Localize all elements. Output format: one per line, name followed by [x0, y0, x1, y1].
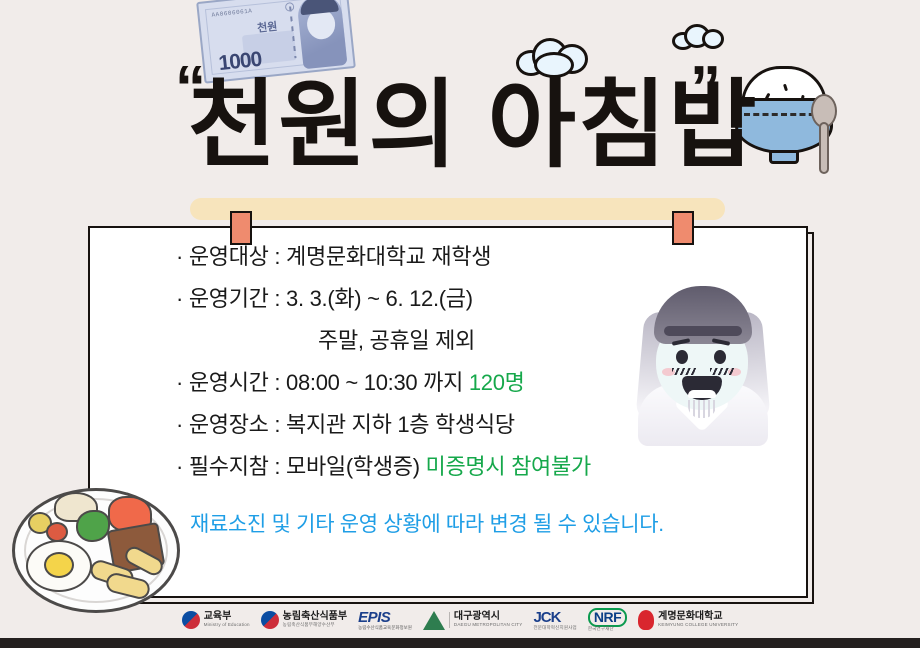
logo-jck-sub: 전문대학혁신지원사업: [533, 626, 576, 631]
sponsor-logo-bar: 교육부 Ministry of Education 농림축산식품부 농림축산식품…: [0, 604, 920, 636]
logo-daegu-en: DAEGU METROPOLITAN CITY: [454, 623, 523, 628]
logo-daegu: 대구광역시 DAEGU METROPOLITAN CITY: [423, 611, 523, 630]
logo-jck-mark: JCK: [533, 610, 576, 626]
logo-divider: [449, 612, 450, 628]
logo-jck: JCK 전문대학혁신지원사업: [533, 610, 576, 630]
logo-nrf-mark: NRF: [588, 608, 627, 627]
notice-text: 재료소진 및 기타 운영 상황에 따라 변경 될 수 있습니다.: [190, 508, 664, 538]
food-plate-icon: [12, 488, 180, 613]
taegeuk-icon: [261, 611, 279, 629]
logo-epis: EPIS 농림수산식품교육문화정보원: [358, 610, 412, 630]
cloud-icon-large: [516, 38, 596, 76]
bottom-bar: [0, 638, 920, 648]
logo-ministry-of-education-en: Ministry of Education: [204, 623, 250, 628]
spoon-handle: [819, 122, 829, 174]
info-line-requirement-text: · 필수지참 : 모바일(학생증): [176, 454, 426, 479]
poster-canvas: AA0606061A 천원 1000 “ ” 천원의 아침밥 · 운영대상 : …: [0, 0, 920, 648]
page-title: 천원의 아침밥: [188, 76, 748, 177]
info-line-hours-text: · 운영시간 : 08:00 ~ 10:30 까지: [176, 370, 469, 395]
info-line-period-note-text: 주말, 공휴일 제외: [318, 328, 475, 353]
taegeuk-icon: [182, 611, 200, 629]
logo-ministry-of-education: 교육부 Ministry of Education: [182, 611, 250, 629]
logo-nrf-sub: 한국연구재단: [588, 627, 627, 632]
info-line-requirement: · 필수지참 : 모바일(학생증) 미증명시 참여불가: [176, 446, 716, 488]
logo-epis-sub: 농림수산식품교육문화정보원: [358, 626, 412, 631]
info-line-hours-capacity: 120명: [469, 370, 525, 395]
sejong-character-icon: [620, 272, 786, 444]
logo-keimyung: 계명문화대학교 KEIMYUNG COLLEGE UNIVERSITY: [638, 610, 738, 630]
info-line-location-text: · 운영장소 : 복지관 지하 1층 학생식당: [176, 412, 515, 437]
banknote-korean-value: 천원: [256, 18, 278, 36]
cloud-icon-small: [672, 24, 726, 50]
info-line-period-text: · 운영기간 : 3. 3.(화) ~ 6. 12.(금): [176, 286, 473, 311]
triangle-icon: [423, 611, 445, 630]
logo-mafra-en: 농림축산식품부해양수산부: [283, 623, 347, 628]
logo-nrf: NRF 한국연구재단: [588, 608, 627, 631]
logo-mafra: 농림축산식품부 농림축산식품부해양수산부: [261, 611, 347, 629]
title-highlight-bar: [190, 198, 725, 220]
info-line-target-text: · 운영대상 : 계명문화대학교 재학생: [176, 244, 491, 269]
logo-keimyung-en: KEIMYUNG COLLEGE UNIVERSITY: [658, 623, 738, 628]
keimyung-mark-icon: [638, 610, 654, 630]
info-line-requirement-warning: 미증명시 참여불가: [426, 454, 591, 479]
logo-epis-mark: EPIS: [358, 610, 412, 626]
